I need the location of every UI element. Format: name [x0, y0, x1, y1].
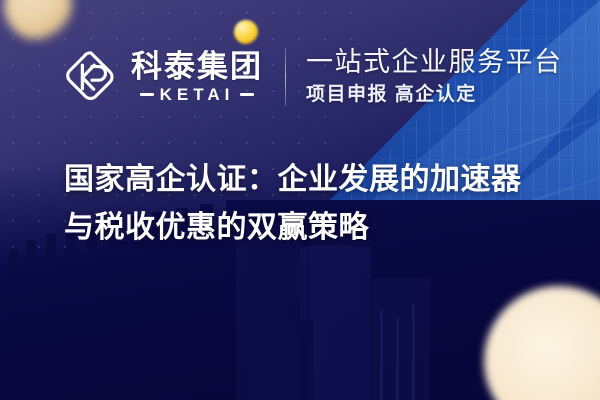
vertical-divider	[285, 48, 286, 106]
banner-header: 科泰集团 KETAI 一站式企业服务平台 项目申报 高企认定	[0, 38, 600, 116]
tagline-sub: 项目申报 高企认定	[306, 84, 563, 107]
tagline-main: 一站式企业服务平台	[306, 47, 563, 77]
brand-name-en-row: KETAI	[140, 86, 255, 103]
dash-right-icon	[240, 93, 254, 96]
headline-line-2: 与税收优惠的双赢策略	[64, 204, 564, 252]
dash-left-icon	[140, 93, 154, 96]
tagline-block: 一站式企业服务平台 项目申报 高企认定	[306, 47, 563, 106]
brand-name-en: KETAI	[160, 86, 235, 103]
brand-name-cn: 科泰集团	[131, 51, 263, 84]
headline-line-1: 国家高企认证：企业发展的加速器	[64, 156, 564, 204]
promo-banner: 科泰集团 KETAI 一站式企业服务平台 项目申报 高企认定 国家高企认证：企业…	[0, 0, 600, 400]
brand-logo[interactable]: 科泰集团 KETAI	[62, 48, 263, 106]
headline-block: 国家高企认证：企业发展的加速器 与税收优惠的双赢策略	[64, 156, 564, 252]
ketai-diamond-monogram-icon	[62, 48, 120, 106]
